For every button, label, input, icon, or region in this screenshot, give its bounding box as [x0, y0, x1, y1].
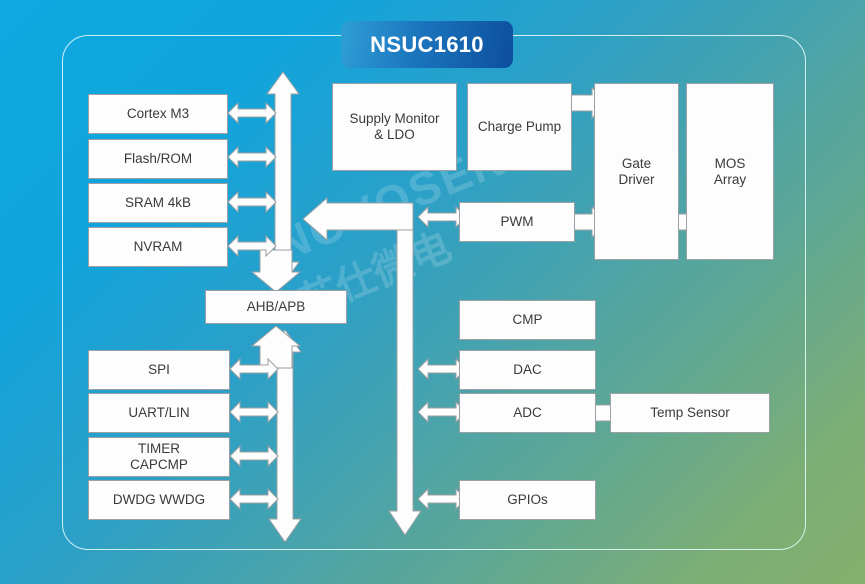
- block-cmp[interactable]: CMP: [459, 300, 596, 340]
- block-pwm[interactable]: PWM: [459, 202, 575, 242]
- diagram-canvas: NOVOSENSE 芯仕微电 NSUC1610: [0, 0, 865, 584]
- block-spi[interactable]: SPI: [88, 350, 230, 390]
- block-temp-sensor[interactable]: Temp Sensor: [610, 393, 770, 433]
- block-flash-rom[interactable]: Flash/ROM: [88, 139, 228, 179]
- bus-label-ahb-main-b: B: [276, 184, 292, 203]
- block-spi-label: SPI: [148, 362, 170, 378]
- bus-label-apb-main-a: A: [277, 399, 293, 418]
- block-ahb-apb-bridge[interactable]: AHB/APB: [205, 290, 347, 324]
- block-gate-driver[interactable]: Gate Driver: [594, 83, 679, 260]
- block-dac-label: DAC: [513, 362, 542, 378]
- bus-label-ahb-peripheral-a: A: [396, 360, 412, 379]
- block-sram-label: SRAM 4kB: [125, 195, 191, 211]
- chip-title-badge: NSUC1610: [341, 21, 513, 68]
- block-dwdg-wwdg[interactable]: DWDG WWDG: [88, 480, 230, 520]
- block-temp-sensor-label: Temp Sensor: [650, 405, 730, 421]
- block-timer-capcmp[interactable]: TIMER CAPCMP: [88, 437, 230, 477]
- block-timer-capcmp-label-1: TIMER: [138, 441, 180, 457]
- block-gate-driver-label-1: Gate: [622, 156, 651, 172]
- bus-label-ahb-main: A H B: [276, 146, 292, 203]
- bus-label-ahb-peripheral: A H B: [396, 360, 412, 417]
- bus-label-apb-main-b: B: [277, 437, 293, 456]
- bus-label-ahb-peripheral-b: B: [396, 398, 412, 417]
- block-supply-monitor-ldo[interactable]: Supply Monitor & LDO: [332, 83, 457, 171]
- block-adc-label: ADC: [513, 405, 542, 421]
- block-mos-array[interactable]: MOS Array: [686, 83, 774, 260]
- block-pwm-label: PWM: [501, 214, 534, 230]
- block-dwdg-wwdg-label: DWDG WWDG: [113, 492, 205, 508]
- block-nvram[interactable]: NVRAM: [88, 227, 228, 267]
- bus-label-ahb-main-a: A: [276, 146, 292, 165]
- block-sram[interactable]: SRAM 4kB: [88, 183, 228, 223]
- block-mos-array-label-1: MOS: [715, 156, 746, 172]
- block-charge-pump-label: Charge Pump: [478, 119, 561, 135]
- block-adc[interactable]: ADC: [459, 393, 596, 433]
- block-cortex-m3-label: Cortex M3: [127, 106, 189, 122]
- block-cmp-label: CMP: [513, 312, 543, 328]
- block-charge-pump[interactable]: Charge Pump: [467, 83, 572, 171]
- bus-label-apb-main: A P B: [277, 399, 293, 456]
- block-uart-lin-label: UART/LIN: [128, 405, 189, 421]
- bus-label-ahb-main-h: H: [276, 165, 292, 184]
- block-timer-capcmp-label-2: CAPCMP: [130, 457, 188, 473]
- block-gpios-label: GPIOs: [507, 492, 548, 508]
- block-gate-driver-label-2: Driver: [619, 172, 655, 188]
- block-ahb-apb-bridge-label: AHB/APB: [247, 299, 306, 315]
- block-flash-rom-label: Flash/ROM: [124, 151, 192, 167]
- block-gpios[interactable]: GPIOs: [459, 480, 596, 520]
- block-dac[interactable]: DAC: [459, 350, 596, 390]
- block-mos-array-label-2: Array: [714, 172, 746, 188]
- block-supply-monitor-label-1: Supply Monitor: [349, 111, 439, 127]
- block-nvram-label: NVRAM: [134, 239, 183, 255]
- block-supply-monitor-label-2: & LDO: [374, 127, 415, 143]
- bus-label-apb-main-p: P: [277, 418, 293, 437]
- block-cortex-m3[interactable]: Cortex M3: [88, 94, 228, 134]
- block-uart-lin[interactable]: UART/LIN: [88, 393, 230, 433]
- bus-label-ahb-peripheral-h: H: [396, 379, 412, 398]
